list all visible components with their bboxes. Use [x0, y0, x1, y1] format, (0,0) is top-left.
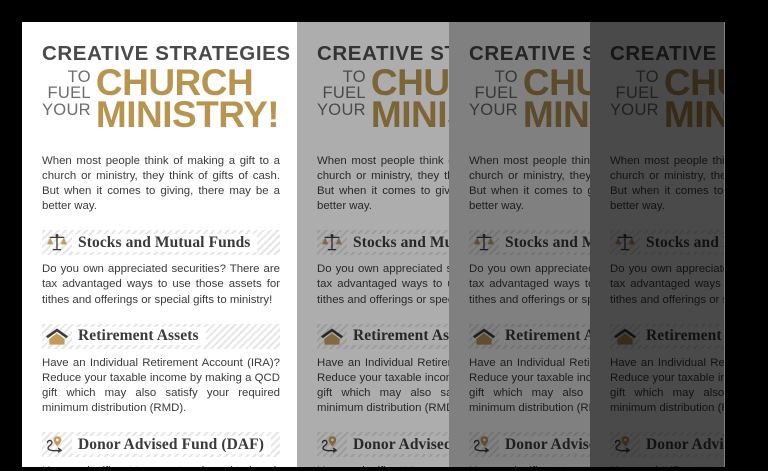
- section-heading-band: Donor Advised Fund (DAF): [610, 432, 724, 457]
- title-small-1: TO: [636, 69, 659, 86]
- title-small-3: YOUR: [469, 102, 518, 119]
- road-map-pin-icon: [610, 432, 640, 457]
- title-small-1: TO: [343, 69, 366, 86]
- section-daf: Donor Advised Fund (DAF) Have a signific…: [610, 432, 724, 467]
- road-map-pin-icon: [469, 432, 499, 457]
- house-home-icon: [42, 324, 72, 349]
- title-block: CREATIVE STRATEGIES TO FUEL YOUR CHURCH …: [22, 22, 298, 132]
- section-body: Have an Individual Retirement Account (I…: [42, 356, 280, 417]
- section-title: Donor Advised Fund (DAF): [640, 436, 724, 454]
- section-stocks: Stocks and Mutual Funds Do you own appre…: [610, 230, 724, 307]
- brochure-panel-4: CREATIVE STRATEGIES TO FUEL YOUR CHURCH …: [590, 22, 724, 467]
- title-small-2: FUEL: [47, 85, 90, 102]
- house-home-icon: [469, 324, 499, 349]
- intro-paragraph: When most people think of making a gift …: [42, 154, 280, 215]
- title-small-3: YOUR: [610, 102, 659, 119]
- section-heading-band: Donor Advised Fund (DAF): [42, 432, 280, 457]
- section-body: Have an Individual Retirement Account (I…: [610, 356, 724, 417]
- section-title: Retirement Assets: [640, 327, 724, 345]
- title-block: CREATIVE STRATEGIES TO FUEL YOUR CHURCH …: [590, 22, 724, 132]
- title-big-2: MINISTRY!: [96, 99, 279, 132]
- section-title: Donor Advised Fund (DAF): [72, 436, 271, 454]
- title-small-stack: TO FUEL YOUR: [42, 67, 91, 119]
- title-small-3: YOUR: [42, 102, 91, 119]
- page-canvas: CREATIVE STRATEGIES TO FUEL YOUR CHURCH …: [0, 0, 768, 471]
- intro-paragraph: When most people think of making a gift …: [610, 154, 724, 215]
- body-block: When most people think of making a gift …: [590, 132, 724, 467]
- section-body: Do you own appreciated securities? There…: [610, 262, 724, 307]
- scales-balance-icon: [610, 230, 640, 255]
- house-home-icon: [317, 324, 347, 349]
- title-big-2: MINISTRY!: [664, 99, 724, 132]
- title-big-stack: CHURCH MINISTRY!: [664, 67, 724, 132]
- road-map-pin-icon: [42, 432, 72, 457]
- section-title: Stocks and Mutual Funds: [72, 234, 257, 252]
- house-home-icon: [610, 324, 640, 349]
- section-retirement: Retirement Assets Have an Individual Ret…: [610, 324, 724, 417]
- title-small-2: FUEL: [474, 85, 517, 102]
- section-retirement: Retirement Assets Have an Individual Ret…: [42, 324, 280, 417]
- section-body: Do you own appreciated securities? There…: [42, 262, 280, 307]
- title-small-stack: TO FUEL YOUR: [469, 67, 518, 119]
- section-daf: Donor Advised Fund (DAF) Have a signific…: [42, 432, 280, 467]
- title-small-stack: TO FUEL YOUR: [610, 67, 659, 119]
- section-body: Have a significant tax event and need to…: [610, 464, 724, 467]
- title-big-stack: CHURCH MINISTRY!: [96, 67, 279, 132]
- section-title: Stocks and Mutual Funds: [640, 234, 724, 252]
- title-small-2: FUEL: [322, 85, 365, 102]
- section-heading-band: Retirement Assets: [42, 324, 280, 349]
- brochure-sheet: CREATIVE STRATEGIES TO FUEL YOUR CHURCH …: [590, 22, 724, 467]
- section-heading-band: Retirement Assets: [610, 324, 724, 349]
- section-title: Retirement Assets: [72, 327, 206, 345]
- road-map-pin-icon: [317, 432, 347, 457]
- title-small-1: TO: [495, 69, 518, 86]
- section-heading-band: Stocks and Mutual Funds: [610, 230, 724, 255]
- scales-balance-icon: [42, 230, 72, 255]
- brochure-sheet: CREATIVE STRATEGIES TO FUEL YOUR CHURCH …: [22, 22, 298, 467]
- title-small-stack: TO FUEL YOUR: [317, 67, 366, 119]
- title-small-2: FUEL: [615, 85, 658, 102]
- scales-balance-icon: [317, 230, 347, 255]
- section-stocks: Stocks and Mutual Funds Do you own appre…: [42, 230, 280, 307]
- body-block: When most people think of making a gift …: [22, 132, 298, 467]
- scales-balance-icon: [469, 230, 499, 255]
- brochure-panel-1: CREATIVE STRATEGIES TO FUEL YOUR CHURCH …: [22, 22, 298, 467]
- title-small-1: TO: [68, 69, 91, 86]
- section-heading-band: Stocks and Mutual Funds: [42, 230, 280, 255]
- section-body: Have a significant tax event and need to…: [42, 464, 280, 467]
- title-small-3: YOUR: [317, 102, 366, 119]
